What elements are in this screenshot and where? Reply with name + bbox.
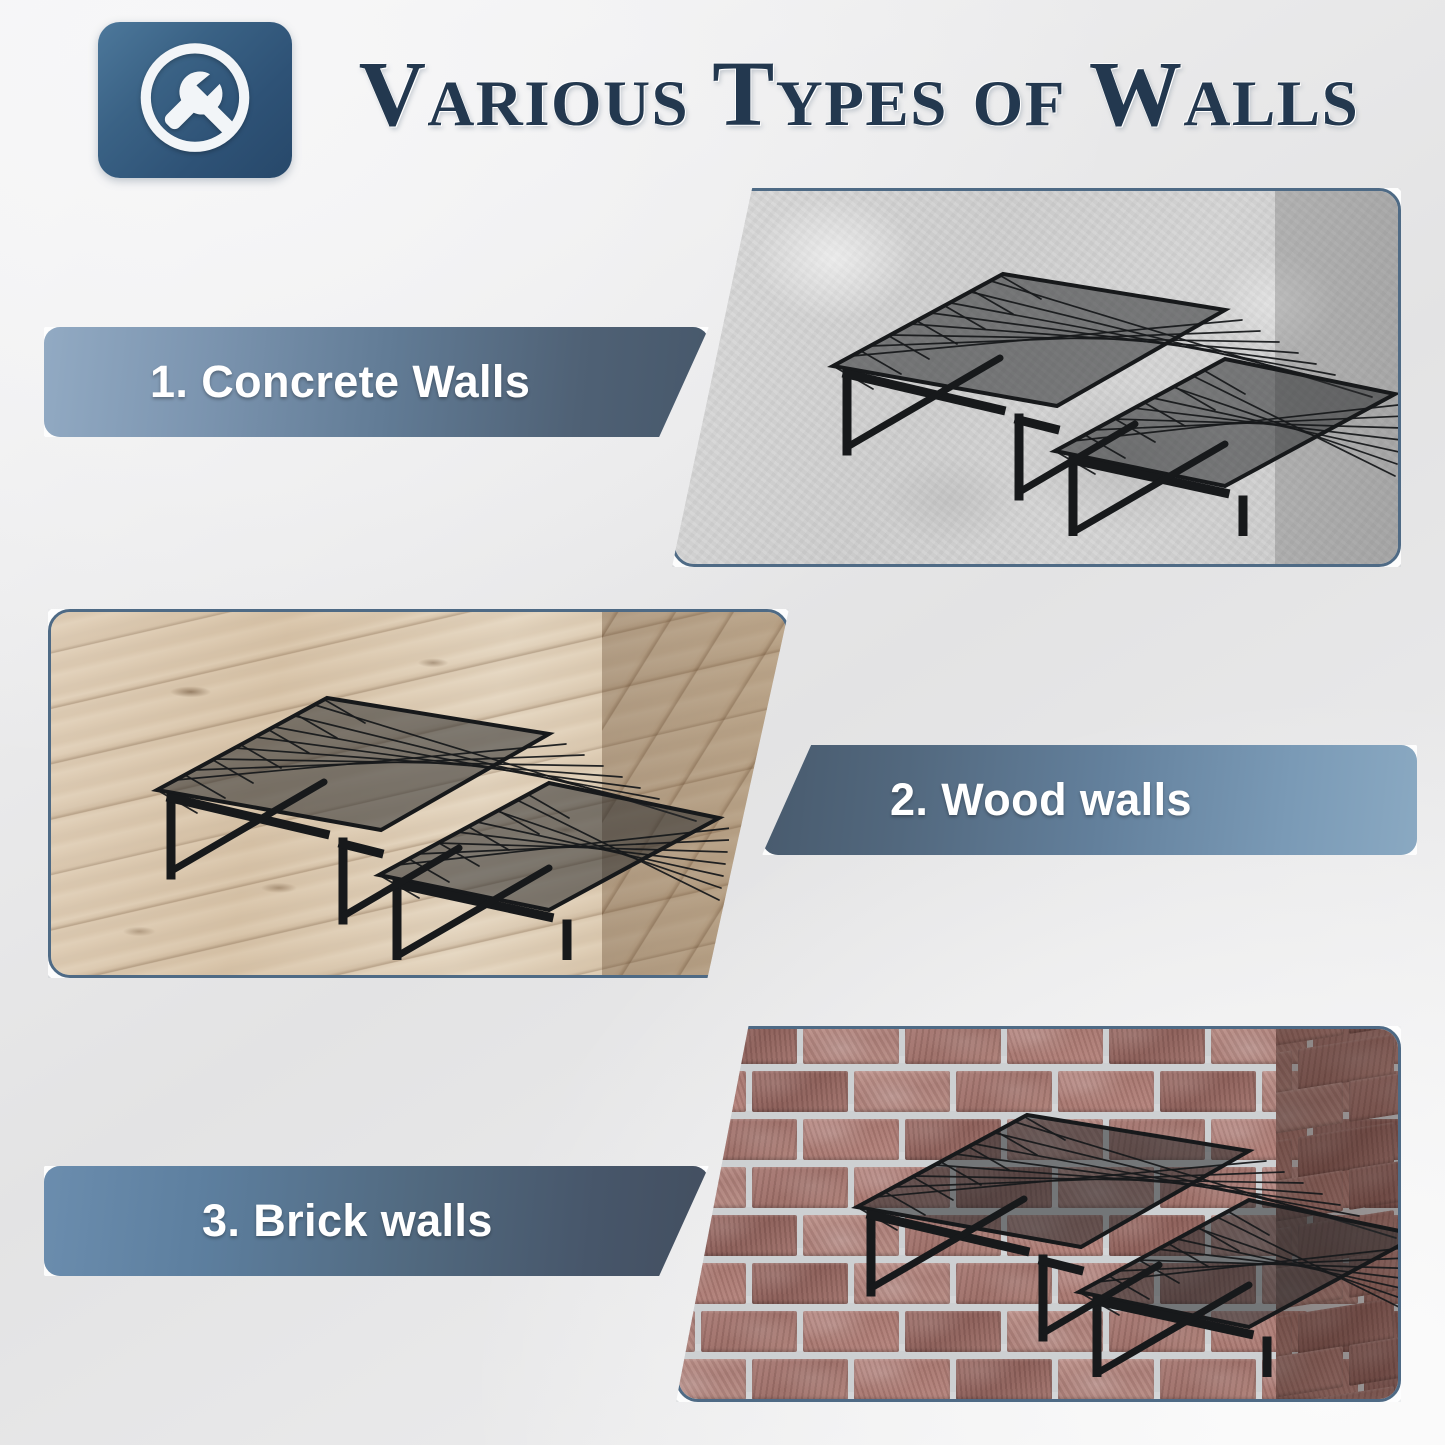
brick — [956, 1359, 1052, 1400]
brick — [1160, 1359, 1256, 1400]
brick — [803, 1026, 899, 1064]
brick — [1058, 1359, 1154, 1400]
brick — [905, 1119, 1001, 1160]
brick — [956, 1167, 1052, 1208]
brick — [956, 1071, 1052, 1112]
brick — [1007, 1026, 1103, 1064]
brick — [854, 1071, 950, 1112]
photo-panel-brick — [676, 1026, 1401, 1402]
brick — [1058, 1167, 1154, 1208]
banner-label-wood: 2. Wood walls — [890, 774, 1192, 826]
brick — [1160, 1263, 1256, 1304]
brick — [1058, 1263, 1154, 1304]
brick — [1007, 1215, 1103, 1256]
brick-corner-shadow — [1276, 1029, 1398, 1399]
brand-logo-badge — [98, 22, 292, 178]
header: Various Types of Walls — [98, 22, 1375, 182]
brick — [1160, 1167, 1256, 1208]
brick — [676, 1311, 695, 1352]
brick — [1160, 1071, 1256, 1112]
brick — [803, 1119, 899, 1160]
brick — [1109, 1119, 1205, 1160]
brick — [701, 1311, 797, 1352]
brick — [1109, 1215, 1205, 1256]
banner-brick-walls[interactable]: 3. Brick walls — [44, 1166, 709, 1276]
brick — [701, 1119, 797, 1160]
brick — [956, 1263, 1052, 1304]
wrench-in-circle-icon — [135, 38, 255, 158]
brick — [676, 1263, 746, 1304]
brick — [676, 1359, 746, 1400]
brick — [701, 1026, 797, 1064]
wood-wall-texture — [51, 612, 786, 975]
brick — [803, 1215, 899, 1256]
poster-root: Various Types of Walls — [0, 0, 1445, 1445]
brick — [905, 1311, 1001, 1352]
brick — [752, 1359, 848, 1400]
brick — [752, 1263, 848, 1304]
brick — [1007, 1311, 1103, 1352]
brick — [676, 1119, 695, 1160]
brick — [1109, 1311, 1205, 1352]
brick — [803, 1311, 899, 1352]
brick — [1109, 1026, 1205, 1064]
brick — [752, 1167, 848, 1208]
brick — [752, 1071, 848, 1112]
banner-wood-walls[interactable]: 2. Wood walls — [762, 745, 1417, 855]
banner-label-brick: 3. Brick walls — [202, 1195, 493, 1247]
photo-panel-wood — [48, 609, 789, 978]
brick — [854, 1263, 950, 1304]
brick — [676, 1026, 695, 1064]
brick — [854, 1167, 950, 1208]
concrete-wall-texture — [675, 191, 1398, 564]
brick — [676, 1071, 746, 1112]
banner-concrete-walls[interactable]: 1. Concrete Walls — [44, 327, 709, 437]
brick — [1007, 1119, 1103, 1160]
banner-label-concrete: 1. Concrete Walls — [150, 356, 530, 408]
brick-wall-texture — [679, 1029, 1398, 1399]
brick — [1058, 1071, 1154, 1112]
photo-panel-concrete — [672, 188, 1401, 567]
brick — [905, 1215, 1001, 1256]
brick — [701, 1215, 797, 1256]
page-title: Various Types of Walls — [343, 48, 1375, 141]
brick — [905, 1026, 1001, 1064]
brick — [854, 1359, 950, 1400]
